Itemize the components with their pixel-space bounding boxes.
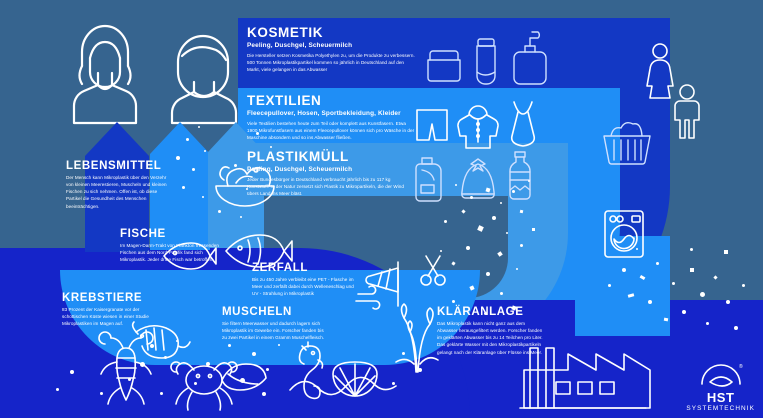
fish-icon-2 [158, 238, 216, 274]
shorts-icon [414, 108, 450, 144]
logo-name: HST [686, 390, 755, 405]
hoodie-icon [456, 102, 500, 150]
detergent-bottle-icon [412, 154, 446, 204]
muscheln-body: Sie filtern Meerwasser und dadurch lager… [222, 320, 326, 341]
garbage-bag-icon [457, 154, 499, 202]
textilien-title: TEXTILIEN [247, 94, 417, 108]
lebensmittel-body: Der Mensch kann Mikroplastik über den Ve… [66, 174, 174, 210]
plastikmuell-body: Jeder Bundesbürger in Deutschland verbra… [247, 176, 407, 197]
wave-icon [288, 370, 398, 400]
pictogram-man-icon [670, 83, 704, 141]
klaeranlage-title: KLÄRANLAGE [437, 306, 545, 318]
lebensmittel-title: LEBENSMITTEL [66, 160, 174, 172]
shrimp-icon [128, 318, 192, 366]
kosmetik-title: KOSMETIK [247, 26, 415, 40]
cosmetics-jar-icon [424, 48, 464, 82]
krebstiere-title: KREBSTIERE [62, 292, 166, 304]
plastikmuell-title: PLASTIKMÜLL [247, 150, 407, 164]
reed-plant-icon [386, 284, 446, 374]
muscheln-title: MUSCHELN [222, 306, 326, 318]
fish-icon [218, 228, 292, 274]
kosmetik-subtitle: Peeling, Duschgel, Scheuermilch [247, 42, 415, 50]
section-textilien: TEXTILIEN Fleecepullover, Hosen, Sportbe… [247, 94, 417, 141]
section-lebensmittel: LEBENSMITTEL Der Mensch kann Mikroplasti… [66, 160, 174, 210]
laundry-basket-icon [600, 120, 654, 166]
hst-arch-logo-icon: ® [698, 360, 744, 390]
pet-bottle-icon [506, 150, 534, 204]
washing-machine-icon [602, 208, 646, 260]
section-muscheln: MUSCHELN Sie filtern Meerwasser und dadu… [222, 306, 326, 341]
person-female-icon [60, 18, 150, 128]
hst-logo[interactable]: ® HST SYSTEMTECHNIK [686, 360, 755, 412]
dress-icon [505, 100, 541, 150]
cream-tube-icon [470, 36, 502, 86]
kosmetik-body: Die Hersteller setzen Kosmetika Polyethy… [247, 52, 415, 73]
logo-registered-mark: ® [739, 363, 743, 370]
pump-bottle-icon [510, 30, 550, 86]
textilien-subtitle: Fleecepullover, Hosen, Sportbekleidung, … [247, 110, 417, 118]
plastikmuell-subtitle: Peeling, Duschgel, Scheuermilch [247, 166, 407, 174]
infographic-canvas: KOSMETIK Peeling, Duschgel, Scheuermilch… [0, 0, 763, 418]
section-kosmetik: KOSMETIK Peeling, Duschgel, Scheuermilch… [247, 26, 415, 73]
section-plastikmuell: PLASTIKMÜLL Peeling, Duschgel, Scheuermi… [247, 150, 407, 197]
logo-subtitle: SYSTEMTECHNIK [686, 405, 755, 412]
zerfall-body: Bis zu 450 Jahre verbleibt eine PET - Fl… [252, 276, 358, 297]
scissors-icon [418, 252, 448, 288]
textilien-body: Viele Textilien bestehen heute zum Teil … [247, 120, 417, 141]
factory-icon [500, 330, 660, 414]
person-male-icon [158, 18, 248, 128]
